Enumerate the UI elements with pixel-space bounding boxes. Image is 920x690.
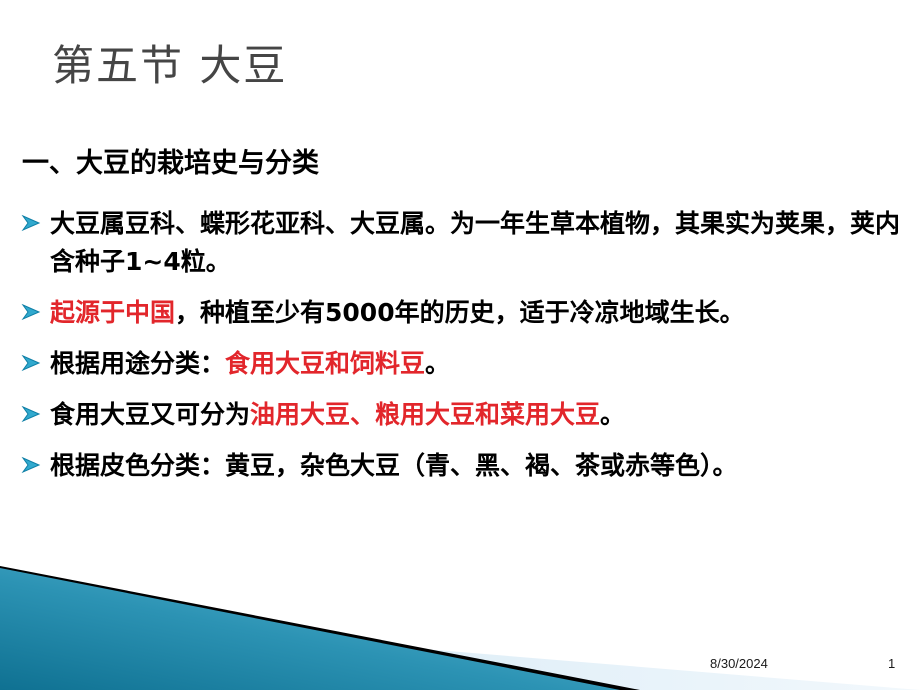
bullet-seedcoat-color: 根据皮色分类：黄豆，杂色大豆（青、黑、褐、茶或赤等色）。 <box>18 447 908 485</box>
bullet-text: 大豆属豆科、蝶形花亚科、大豆属。为一年生草本植物，其果实为荚果，荚内含种子1~4… <box>50 209 900 276</box>
bullet-segment: 油用大豆、粮用大豆和菜用大豆 <box>250 400 600 429</box>
bullet-segment: 。 <box>425 349 450 378</box>
pale-blue-wedge <box>0 614 920 690</box>
footer-date: 8/30/2024 <box>710 656 768 671</box>
bullet-segment: 起源于中国 <box>50 298 175 327</box>
arrow-bullet-icon <box>20 352 42 374</box>
arrow-bullet-icon <box>20 454 42 476</box>
teal-gradient-band <box>0 568 620 690</box>
presentation-slide: 第五节 大豆 一、大豆的栽培史与分类 大豆属豆科、蝶形花亚科、大豆属。为一年生草… <box>0 0 920 690</box>
black-diagonal-stripe <box>0 566 640 690</box>
bullet-edible-subtypes: 食用大豆又可分为油用大豆、粮用大豆和菜用大豆。 <box>18 396 908 434</box>
arrow-bullet-icon <box>20 212 42 234</box>
slide-title: 第五节 大豆 <box>52 41 287 91</box>
bullet-segment: 食用大豆和饲料豆 <box>225 349 425 378</box>
bullet-origin-china: 起源于中国，种植至少有5000年的历史，适于冷凉地域生长。 <box>18 294 908 332</box>
bullet-segment: 食用大豆又可分为 <box>50 400 250 429</box>
bullet-segment: ，种植至少有5000年的历史，适于冷凉地域生长。 <box>175 298 745 327</box>
bullet-segment: 。 <box>600 400 625 429</box>
bullet-segment: 大豆属豆科、蝶形花亚科、大豆属。为一年生草本植物，其果实为荚果，荚内含种子1~4… <box>50 209 900 276</box>
section-heading: 一、大豆的栽培史与分类 <box>22 141 319 180</box>
bullet-text: 根据用途分类：食用大豆和饲料豆。 <box>50 349 450 378</box>
bullet-segment: 根据皮色分类：黄豆，杂色大豆（青、黑、褐、茶或赤等色）。 <box>50 451 738 480</box>
bullet-text: 食用大豆又可分为油用大豆、粮用大豆和菜用大豆。 <box>50 400 625 429</box>
decorative-corner-graphic <box>0 550 920 690</box>
bullet-text: 起源于中国，种植至少有5000年的历史，适于冷凉地域生长。 <box>50 298 745 327</box>
bullet-classification-family: 大豆属豆科、蝶形花亚科、大豆属。为一年生草本植物，其果实为荚果，荚内含种子1~4… <box>18 205 908 281</box>
footer-page-number: 1 <box>888 656 895 671</box>
bullet-segment: 根据用途分类： <box>50 349 225 378</box>
arrow-bullet-icon <box>20 301 42 323</box>
bullet-usage-classification: 根据用途分类：食用大豆和饲料豆。 <box>18 345 908 383</box>
bullet-list: 大豆属豆科、蝶形花亚科、大豆属。为一年生草本植物，其果实为荚果，荚内含种子1~4… <box>18 205 908 498</box>
bullet-text: 根据皮色分类：黄豆，杂色大豆（青、黑、褐、茶或赤等色）。 <box>50 451 738 480</box>
arrow-bullet-icon <box>20 403 42 425</box>
